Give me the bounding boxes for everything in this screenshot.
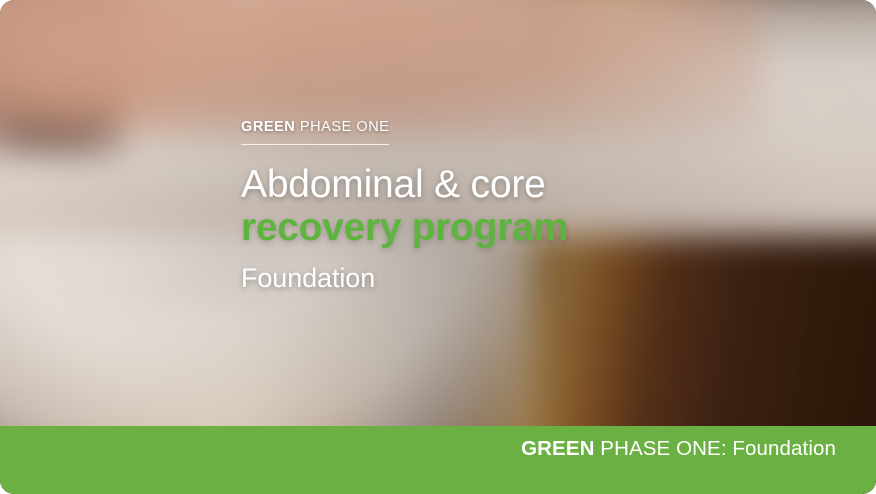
page-title-line-2: recovery program [241,206,661,250]
footer-bar: GREEN PHASE ONE: Foundation [0,426,876,494]
footer-label-brand: GREEN [521,437,594,460]
phase-eyebrow-brand: GREEN [241,119,295,135]
phase-eyebrow-phase: PHASE ONE [295,119,389,135]
page-title-line-1: Abdominal & core [241,164,661,205]
phase-eyebrow: GREEN PHASE ONE [241,120,389,145]
title-block: GREEN PHASE ONE Abdominal & core recover… [241,118,661,293]
video-title-slide: GREEN PHASE ONE Abdominal & core recover… [0,0,876,494]
page-subtitle: Foundation [241,264,661,294]
footer-label-rest: PHASE ONE: Foundation [595,437,836,460]
footer-label: GREEN PHASE ONE: Foundation [521,439,836,482]
